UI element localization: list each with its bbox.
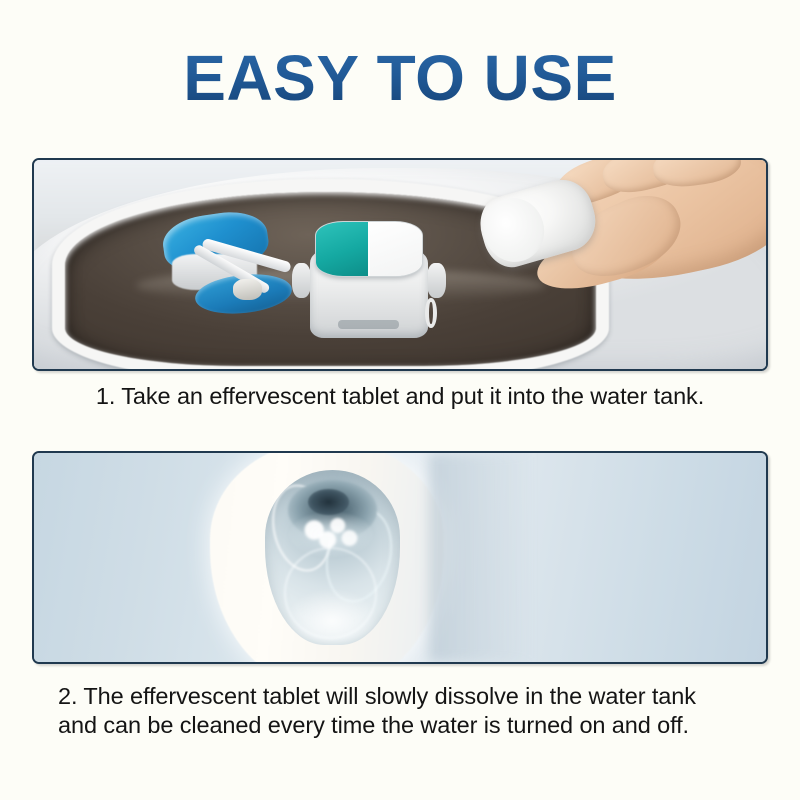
water-foam: [289, 512, 373, 558]
hand: [488, 158, 768, 327]
flush-button-white-half: [370, 222, 422, 276]
flush-valve-bracket-left: [292, 263, 311, 298]
step-1-image-panel: [32, 158, 768, 371]
effervescent-tablet-face: [477, 191, 552, 268]
toilet-tank-interior-photo: [34, 160, 766, 369]
page-title: EASY TO USE: [0, 46, 800, 110]
fill-valve-blue: [151, 214, 297, 319]
flush-button: [315, 221, 423, 277]
overflow-ring: [425, 298, 437, 328]
step-2-caption: 2. The effervescent tablet will slowly d…: [58, 682, 758, 740]
bowl-bottom-highlight: [286, 589, 378, 642]
toilet-bowl-flush-photo: [34, 453, 766, 662]
dual-flush-valve: [305, 221, 433, 338]
step-2-caption-line-1: 2. The effervescent tablet will slowly d…: [58, 682, 758, 711]
flush-valve-bracket-right: [427, 263, 446, 298]
bowl-wall-shadow: [429, 453, 531, 662]
flush-button-teal-half: [316, 222, 368, 276]
step-2-caption-line-2: and can be cleaned every time the water …: [58, 711, 758, 740]
step-1-caption: 1. Take an effervescent tablet and put i…: [0, 382, 800, 411]
flush-valve-slot: [338, 320, 399, 329]
step-2-image-panel: [32, 451, 768, 664]
bowl-swirling-water: [265, 470, 400, 646]
fill-valve-knob: [233, 279, 262, 300]
water-vortex-core: [308, 489, 349, 515]
